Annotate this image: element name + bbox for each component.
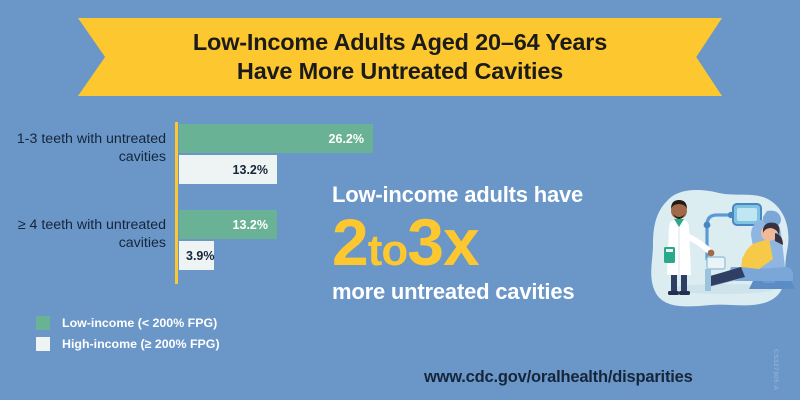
legend-swatch-low-income — [36, 316, 50, 330]
legend-label-low-income: Low-income (< 200% FPG) — [62, 316, 217, 330]
legend-label-high-income: High-income (≥ 200% FPG) — [62, 337, 220, 351]
bar-value-high-income-1-3-teeth: 13.2% — [233, 163, 268, 177]
callout-multiplier: 2to3x — [332, 210, 662, 275]
dentist-and-patient-illustration — [645, 185, 797, 313]
category-label-4-plus-teeth: ≥ 4 teeth with untreated cavities — [6, 216, 166, 253]
legend-item-high-income: High-income (≥ 200% FPG) — [36, 333, 220, 354]
callout-block: Low-income adults have 2to3x more untrea… — [332, 182, 662, 305]
bar-pair-1-3-teeth: 26.2% 13.2% — [179, 124, 373, 184]
bar-value-low-income-1-3-teeth: 26.2% — [329, 132, 364, 146]
bar-high-income-1-3-teeth: 13.2% — [179, 155, 277, 184]
legend-item-low-income: Low-income (< 200% FPG) — [36, 312, 220, 333]
callout-word-to: to — [368, 226, 408, 275]
bar-low-income-1-3-teeth: 26.2% — [179, 124, 373, 153]
title-line-2: Have More Untreated Cavities — [237, 57, 563, 86]
publication-code: CS327305-A — [772, 349, 779, 391]
bar-pair-4-plus-teeth: 13.2% 3.9% — [179, 210, 277, 270]
bar-high-income-4-plus-teeth: 3.9% — [179, 241, 214, 270]
bar-value-high-income-4-plus-teeth: 3.9% — [186, 249, 215, 263]
footer-url[interactable]: www.cdc.gov/oralhealth/disparities — [424, 368, 693, 387]
title-line-1: Low-Income Adults Aged 20–64 Years — [193, 28, 607, 57]
callout-number-2: 2 — [332, 205, 368, 279]
bar-low-income-4-plus-teeth: 13.2% — [179, 210, 277, 239]
category-label-1-3-teeth: 1-3 teeth with untreated cavities — [6, 130, 166, 167]
callout-top-text: Low-income adults have — [332, 182, 662, 208]
bar-value-low-income-4-plus-teeth: 13.2% — [233, 218, 268, 232]
callout-number-3x: 3x — [407, 205, 478, 279]
callout-bottom-text: more untreated cavities — [332, 279, 662, 305]
title-banner: Low-Income Adults Aged 20–64 Years Have … — [78, 18, 722, 96]
legend-swatch-high-income — [36, 337, 50, 351]
infographic-canvas: Low-Income Adults Aged 20–64 Years Have … — [0, 0, 800, 400]
chart-axis-line — [175, 122, 178, 284]
chart-legend: Low-income (< 200% FPG) High-income (≥ 2… — [36, 312, 220, 354]
